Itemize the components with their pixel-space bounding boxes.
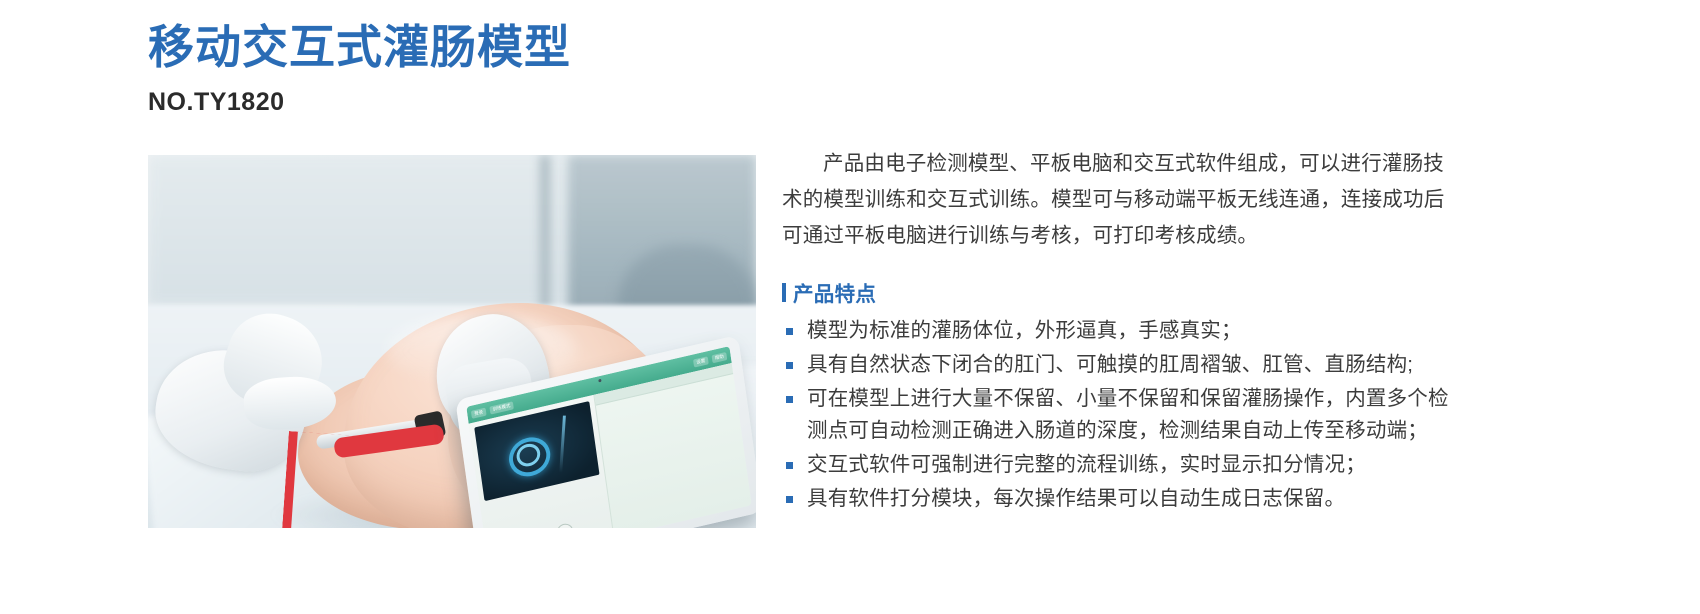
features-section-title: 产品特点: [793, 277, 876, 307]
feature-list: 模型为标准的灌肠体位，外形逼真，手感真实； 具有自然状态下闭合的肛门、可触摸的肛…: [782, 315, 1462, 515]
tablet-knob-right: [555, 522, 574, 528]
list-item: 具有自然状态下闭合的肛门、可触摸的肛周褶皱、肛管、直肠结构;: [782, 349, 1462, 381]
tablet-chip-login: 登录: [471, 407, 487, 418]
product-model-number: NO.TY1820: [148, 88, 768, 117]
page-header: 移动交互式灌肠模型 NO.TY1820: [148, 22, 768, 117]
section-accent-bar-icon: [782, 283, 786, 302]
tablet-chip-help: 帮助: [711, 351, 727, 362]
list-item: 模型为标准的灌肠体位，外形逼真，手感真实；: [782, 315, 1462, 347]
page-title: 移动交互式灌肠模型: [148, 22, 768, 74]
product-photo: 登录 训练模式 设置 帮助: [148, 155, 756, 528]
list-item: 可在模型上进行大量不保留、小量不保留和保留灌肠操作，内置多个检测点可自动检测正确…: [782, 383, 1462, 447]
intro-paragraph: 产品由电子检测模型、平板电脑和交互式软件组成，可以进行灌肠技术的模型训练和交互式…: [782, 146, 1462, 254]
list-item: 具有软件打分模块，每次操作结果可以自动生成日志保留。: [782, 483, 1462, 515]
tablet-chip-settings: 设置: [693, 356, 709, 367]
photo-canvas: 登录 训练模式 设置 帮助: [148, 155, 756, 528]
product-description: 产品由电子检测模型、平板电脑和交互式软件组成，可以进行灌肠技术的模型训练和交互式…: [782, 146, 1462, 517]
features-section-header: 产品特点: [782, 277, 1462, 307]
list-item: 交互式软件可强制进行完整的流程训练，实时显示扣分情况；: [782, 449, 1462, 481]
tablet-control-knobs: [485, 513, 612, 528]
tablet-lumen-streak: [559, 416, 566, 473]
product-spec-page: 移动交互式灌肠模型 NO.TY1820: [0, 0, 1700, 614]
tablet-chip-mode: 训练模式: [489, 401, 514, 414]
